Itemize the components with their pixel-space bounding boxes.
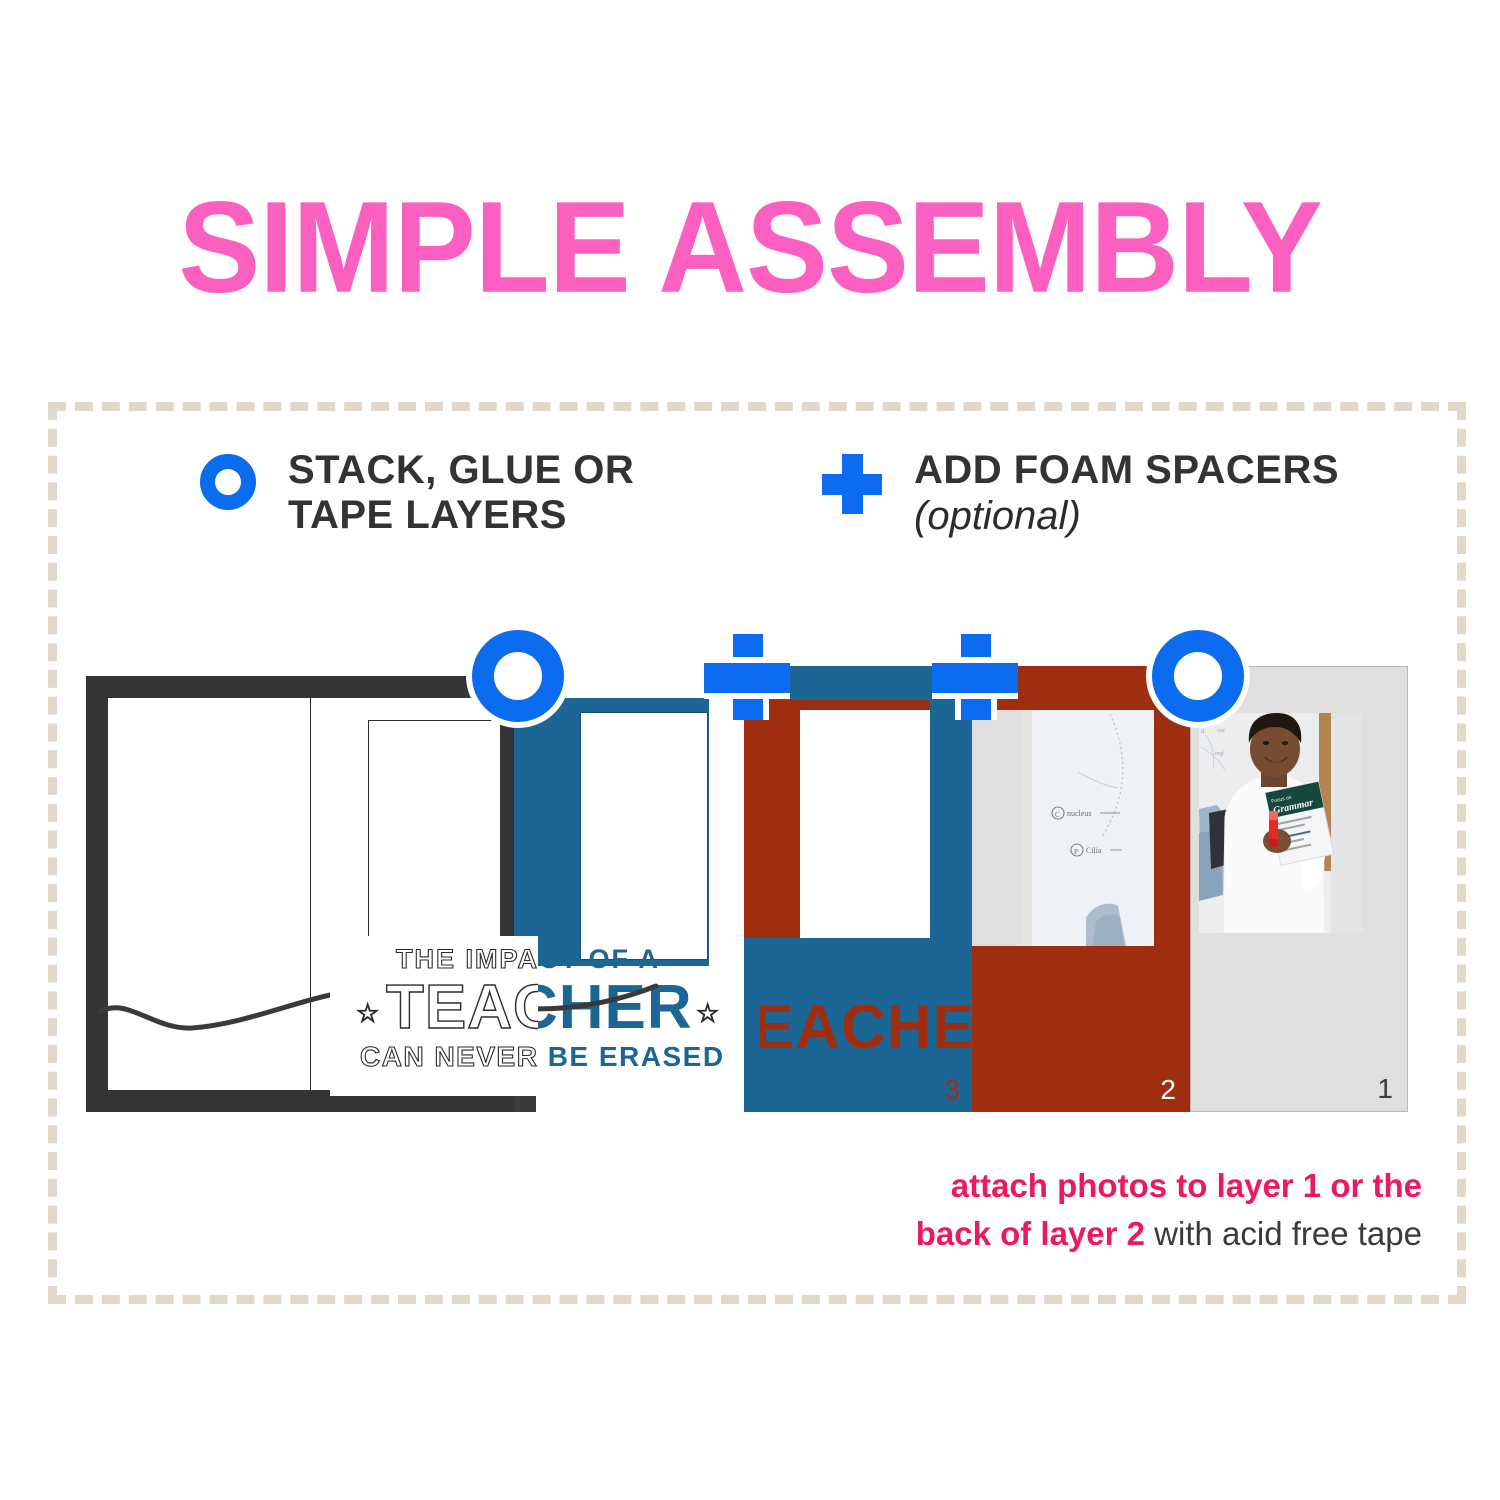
badge-ring-right: [1152, 630, 1244, 722]
layer-4-divider: [310, 698, 311, 1090]
caption-line-2-plain: with acid free tape: [1145, 1215, 1422, 1252]
layer-2-rust: C nucleus P Cilia 2: [972, 666, 1190, 1112]
teacher-photo: d. vac org!: [1199, 713, 1363, 933]
caption-line-1-bold: attach photos to layer 1 or the: [951, 1167, 1422, 1204]
layer-3-photo-window: [580, 712, 708, 960]
layer-number-2: 2: [1160, 1076, 1176, 1104]
layer-1-photo: d. vac org!: [1190, 666, 1408, 1112]
whiteboard-photo: C nucleus P Cilia: [1022, 710, 1154, 946]
layer-4-photo-window: [368, 720, 500, 954]
caption-line-2-bold: back of layer 2: [916, 1215, 1145, 1252]
svg-text:C: C: [1055, 811, 1060, 819]
svg-text:Cilia: Cilia: [1086, 846, 1102, 855]
badge-ring-left: [472, 630, 564, 722]
layer-number-1: 1: [1377, 1075, 1393, 1103]
layer-stack: 3 C nucleus P Cilia: [0, 0, 1500, 1500]
caption-line-1: attach photos to layer 1 or the: [682, 1162, 1422, 1210]
assembly-caption: attach photos to layer 1 or the back of …: [682, 1162, 1422, 1258]
teacher-photo-svg: d. vac org!: [1199, 713, 1363, 933]
svg-text:nucleus: nucleus: [1067, 809, 1091, 818]
layer-4-outline: [86, 676, 522, 1112]
layer-3-window: [800, 710, 930, 938]
svg-text:vac: vac: [1217, 728, 1226, 734]
layer-4-interior: [108, 698, 500, 1090]
svg-text:d.: d.: [1201, 729, 1206, 735]
assembly-infographic: SIMPLE ASSEMBLY STACK, GLUE OR TAPE LAYE…: [0, 0, 1500, 1500]
badge-plus-two: [932, 634, 1018, 720]
badge-plus-one: [704, 634, 790, 720]
layer-2-photo-window: C nucleus P Cilia: [1022, 710, 1154, 946]
svg-text:P: P: [1074, 848, 1078, 856]
caption-line-2: back of layer 2 with acid free tape: [682, 1210, 1422, 1258]
layer-3-blue-sheet: 3: [744, 666, 972, 1112]
layer-number-3: 3: [944, 1076, 960, 1104]
svg-text:org!: org!: [1215, 751, 1225, 757]
layer-3-blue: [514, 676, 744, 1112]
